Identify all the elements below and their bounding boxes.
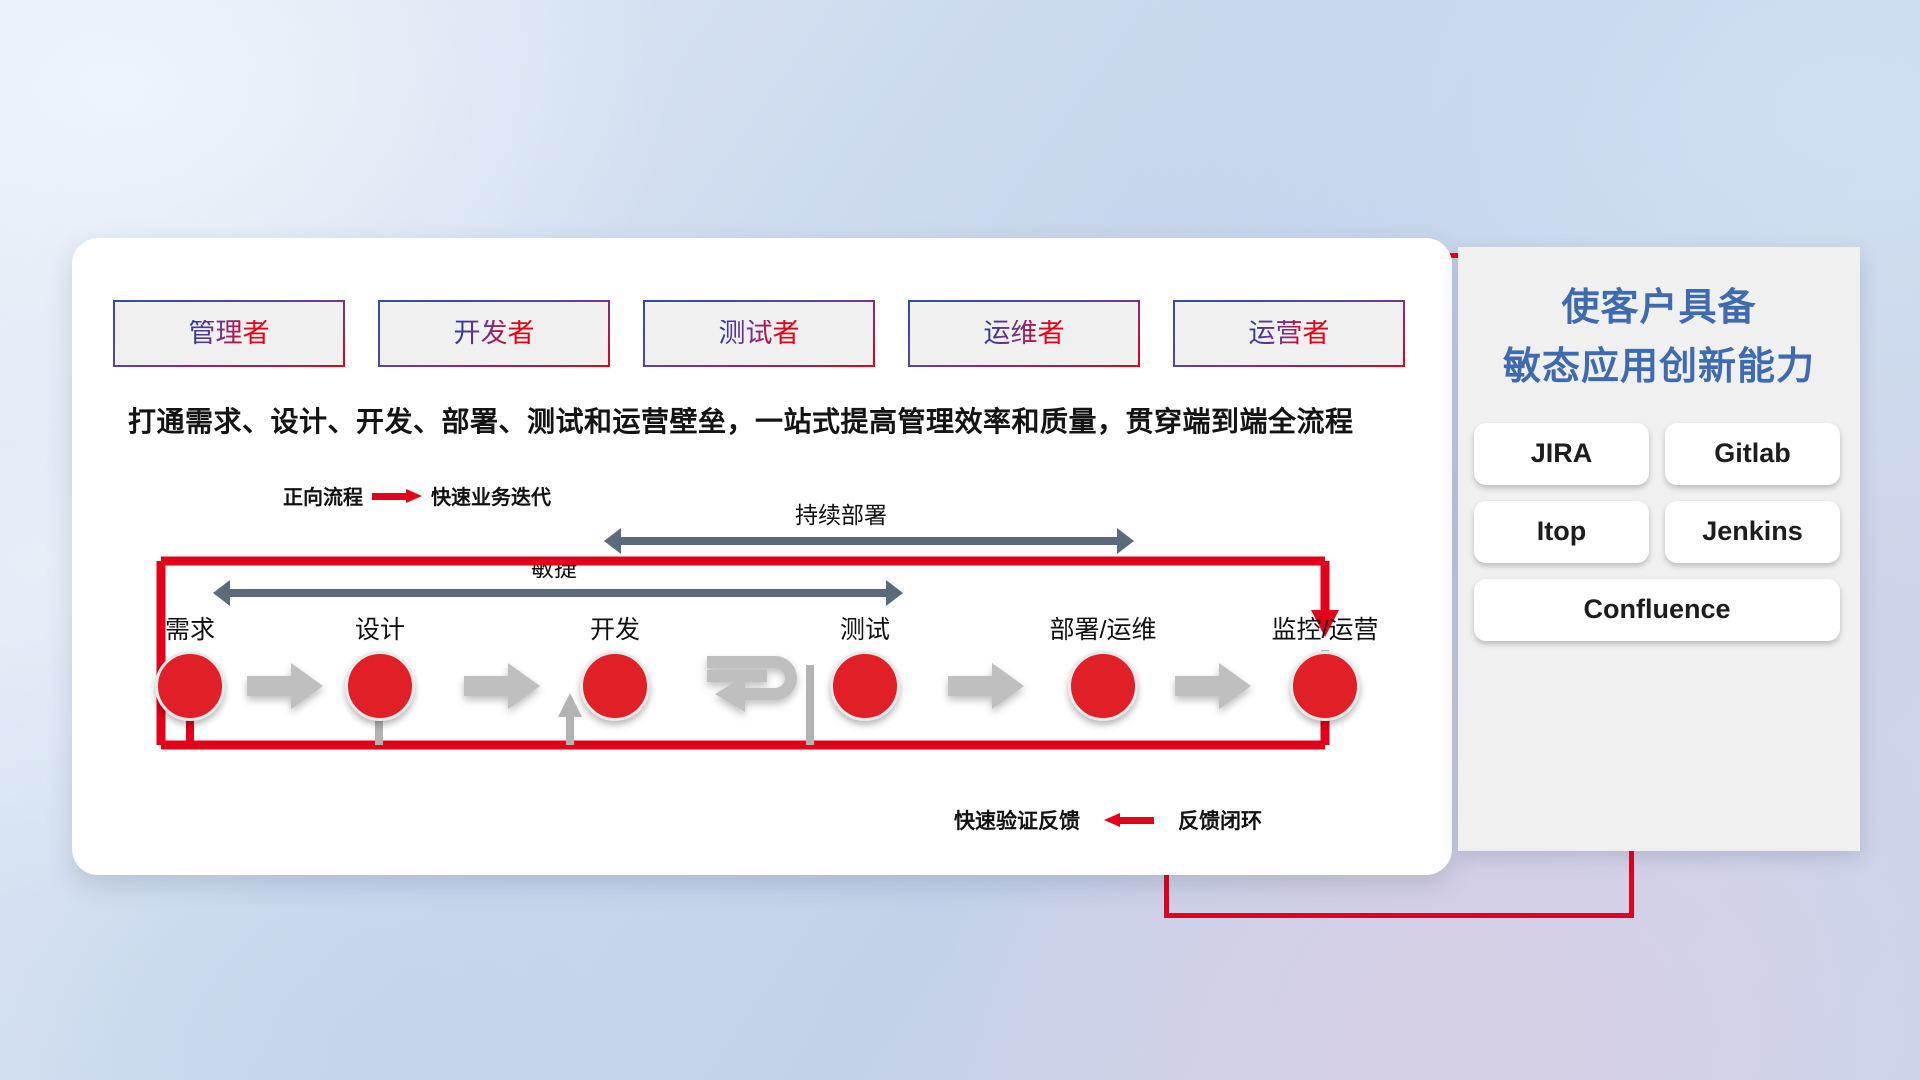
pipeline-stage-test[interactable]: 测试 bbox=[805, 618, 925, 721]
tool-chip-grid: JIRA Gitlab Itop Jenkins Confluence bbox=[1458, 423, 1860, 641]
stage-label: 设计 bbox=[320, 618, 440, 643]
role-label: 测试者 bbox=[719, 320, 800, 347]
block-arrow-right-icon bbox=[948, 663, 1024, 709]
tool-chip-itop[interactable]: Itop bbox=[1474, 501, 1649, 563]
block-arrow-right-icon bbox=[464, 663, 540, 709]
stage-dot bbox=[1290, 651, 1360, 721]
panel-title: 使客户具备 敏态应用创新能力 bbox=[1458, 247, 1860, 397]
measure-arrow-agile bbox=[213, 580, 903, 606]
pipeline-stage-monitor-operations[interactable]: 监控/运营 bbox=[1265, 618, 1385, 721]
arrow-right-icon bbox=[372, 490, 422, 502]
legend-forward-flow: 正向流程 快速业务迭代 bbox=[283, 481, 551, 510]
legend-feedback-loop: 快速验证反馈 反馈闭环 bbox=[954, 805, 1262, 835]
role-box-developer[interactable]: 开发者 bbox=[378, 300, 610, 367]
value-panel: 使客户具备 敏态应用创新能力 JIRA Gitlab Itop Jenkins … bbox=[1458, 247, 1860, 851]
stage-label: 部署/运维 bbox=[1043, 618, 1163, 643]
legend-feedback-left-label: 快速验证反馈 bbox=[954, 805, 1080, 835]
pipeline-stage-development[interactable]: 开发 bbox=[555, 618, 675, 721]
tool-chip-confluence[interactable]: Confluence bbox=[1474, 579, 1840, 641]
stage-label: 测试 bbox=[805, 618, 925, 643]
stage-dot bbox=[1068, 651, 1138, 721]
role-box-operations[interactable]: 运营者 bbox=[1173, 300, 1405, 367]
stage-label: 需求 bbox=[130, 618, 250, 643]
role-box-tester[interactable]: 测试者 bbox=[643, 300, 875, 367]
stage-dot bbox=[345, 651, 415, 721]
tool-chip-jira[interactable]: JIRA bbox=[1474, 423, 1649, 485]
measure-arrow-continuous-deployment bbox=[604, 528, 1134, 554]
stage-dot bbox=[830, 651, 900, 721]
measure-label-continuous-deployment: 持续部署 bbox=[795, 496, 887, 530]
measure-label-agile: 敏捷 bbox=[531, 549, 577, 583]
stage-label: 监控/运营 bbox=[1265, 618, 1385, 643]
u-turn-loop-arrow-icon bbox=[705, 650, 813, 724]
legend-feedback-right-label: 反馈闭环 bbox=[1178, 805, 1262, 835]
pipeline-stage-design[interactable]: 设计 bbox=[320, 618, 440, 721]
tool-chip-gitlab[interactable]: Gitlab bbox=[1665, 423, 1840, 485]
role-box-ops[interactable]: 运维者 bbox=[908, 300, 1140, 367]
role-box-row: 管理者 开发者 测试者 运维者 运营者 bbox=[113, 300, 1405, 367]
role-box-manager[interactable]: 管理者 bbox=[113, 300, 345, 367]
tool-chip-jenkins[interactable]: Jenkins bbox=[1665, 501, 1840, 563]
stage-dot bbox=[155, 651, 225, 721]
stage-label: 开发 bbox=[555, 618, 675, 643]
arrow-left-icon bbox=[1104, 814, 1154, 826]
legend-forward-right-label: 快速业务迭代 bbox=[431, 481, 551, 510]
role-label: 开发者 bbox=[454, 320, 535, 347]
block-arrow-right-icon bbox=[247, 663, 323, 709]
panel-title-line1: 使客户具备 bbox=[1458, 279, 1860, 338]
legend-forward-left-label: 正向流程 bbox=[283, 481, 363, 510]
pipeline-stage-requirement[interactable]: 需求 bbox=[130, 618, 250, 721]
panel-title-line2: 敏态应用创新能力 bbox=[1458, 338, 1860, 397]
headline-text: 打通需求、设计、开发、部署、测试和运营壁垒，一站式提高管理效率和质量，贯穿端到端… bbox=[128, 400, 1398, 440]
role-label: 运营者 bbox=[1249, 320, 1330, 347]
role-label: 管理者 bbox=[189, 320, 270, 347]
role-label: 运维者 bbox=[984, 320, 1065, 347]
block-arrow-right-icon bbox=[1175, 663, 1251, 709]
pipeline-stage-deploy-ops[interactable]: 部署/运维 bbox=[1043, 618, 1163, 721]
stage-dot bbox=[580, 651, 650, 721]
